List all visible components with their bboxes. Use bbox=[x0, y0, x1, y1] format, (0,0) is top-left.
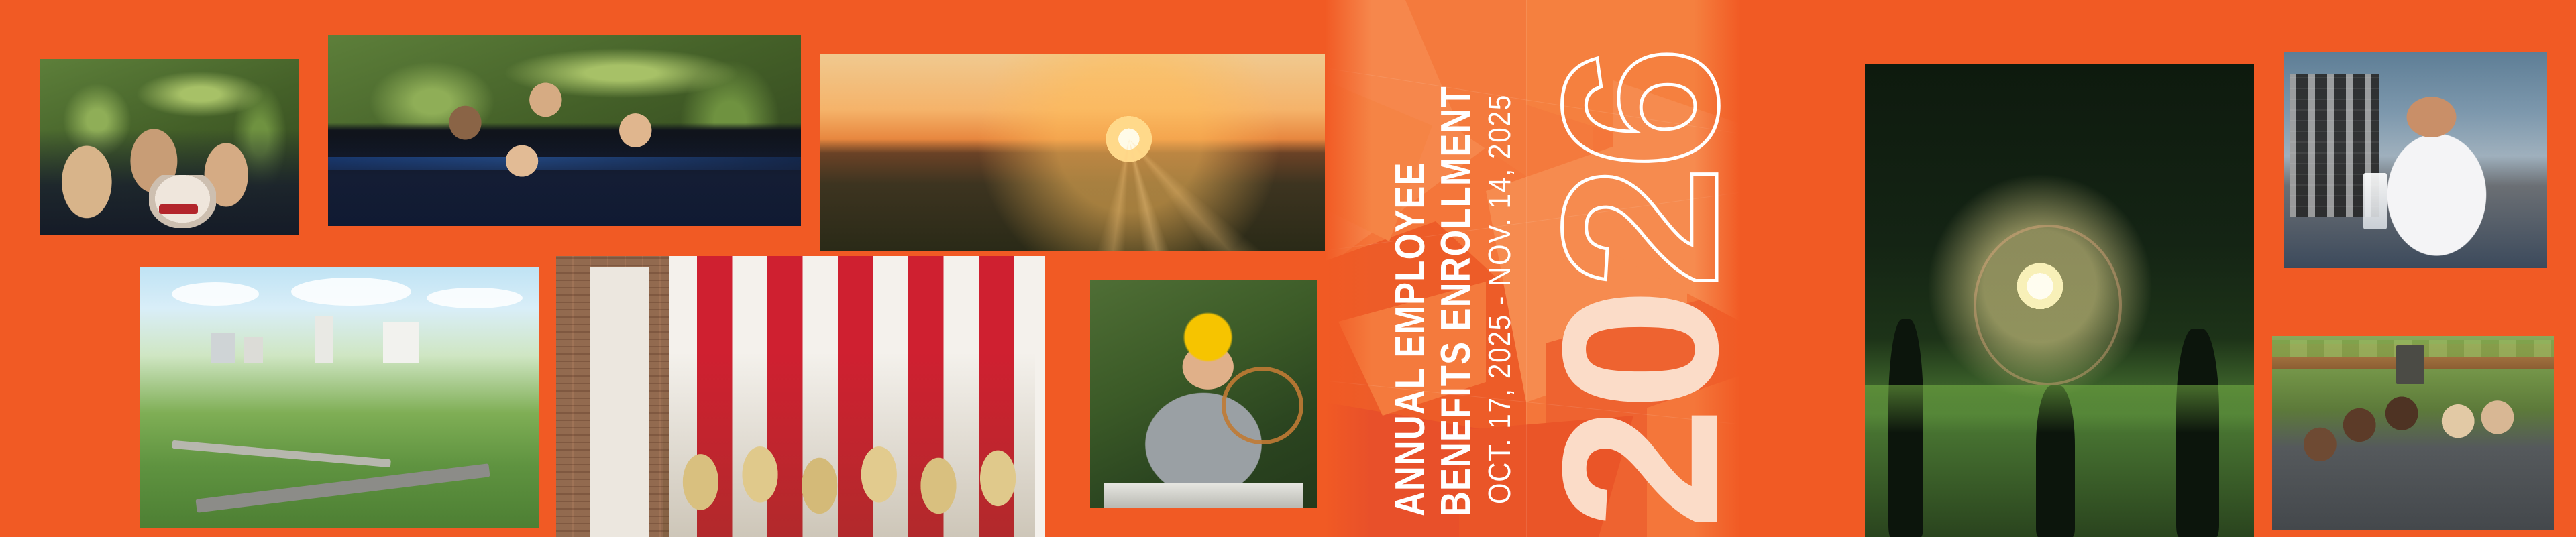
office-building bbox=[383, 322, 419, 363]
sunlit-lawn bbox=[1865, 385, 2254, 433]
oak-trunk bbox=[2176, 329, 2219, 537]
headline-line-2: BENEFITS ENROLLMENT bbox=[1436, 86, 1477, 516]
enrollment-dates: OCT. 17, 2025 - NOV. 14, 2025 bbox=[1484, 94, 1515, 504]
photo-utility-lineman-at-work bbox=[1090, 280, 1317, 508]
photo-sunset-over-city-treeline bbox=[820, 54, 1335, 251]
lab-bottle bbox=[2363, 173, 2387, 229]
headline-line-1: ANNUAL EMPLOYEE bbox=[1390, 162, 1432, 516]
year-solid-digits: 20 bbox=[1529, 292, 1751, 530]
photo-subjects bbox=[663, 352, 1035, 537]
dog-figure bbox=[149, 175, 216, 228]
station-column bbox=[590, 267, 649, 537]
tower-building bbox=[315, 316, 333, 363]
hanging-sign bbox=[2396, 345, 2424, 384]
photo-police-officers-with-patrol-vehicle bbox=[328, 35, 801, 226]
photo-live-oaks-with-sunburst bbox=[1865, 64, 2254, 537]
benefits-enrollment-banner: ANNUAL EMPLOYEE BENEFITS ENROLLMENT OCT.… bbox=[0, 0, 2576, 537]
year-outline-digits: 26 bbox=[1529, 50, 1751, 288]
bucket-rail bbox=[1104, 483, 1303, 508]
photo-employee-volunteer-group bbox=[2272, 336, 2554, 530]
office-building bbox=[244, 337, 264, 363]
lens-flare-ring bbox=[1974, 225, 2121, 385]
dog-collar bbox=[159, 204, 198, 213]
office-building bbox=[211, 333, 235, 364]
photo-firefighters-with-american-flag bbox=[556, 256, 1045, 537]
photo-animal-control-officers-with-dog bbox=[40, 59, 299, 235]
sun-rays bbox=[820, 54, 1335, 251]
photo-downtown-skyline-and-park bbox=[140, 267, 539, 528]
copper-wire-coil bbox=[1222, 367, 1303, 444]
photo-subjects bbox=[328, 35, 801, 226]
cloud bbox=[291, 278, 411, 306]
photo-lab-scientist-with-glassware bbox=[2284, 52, 2547, 268]
